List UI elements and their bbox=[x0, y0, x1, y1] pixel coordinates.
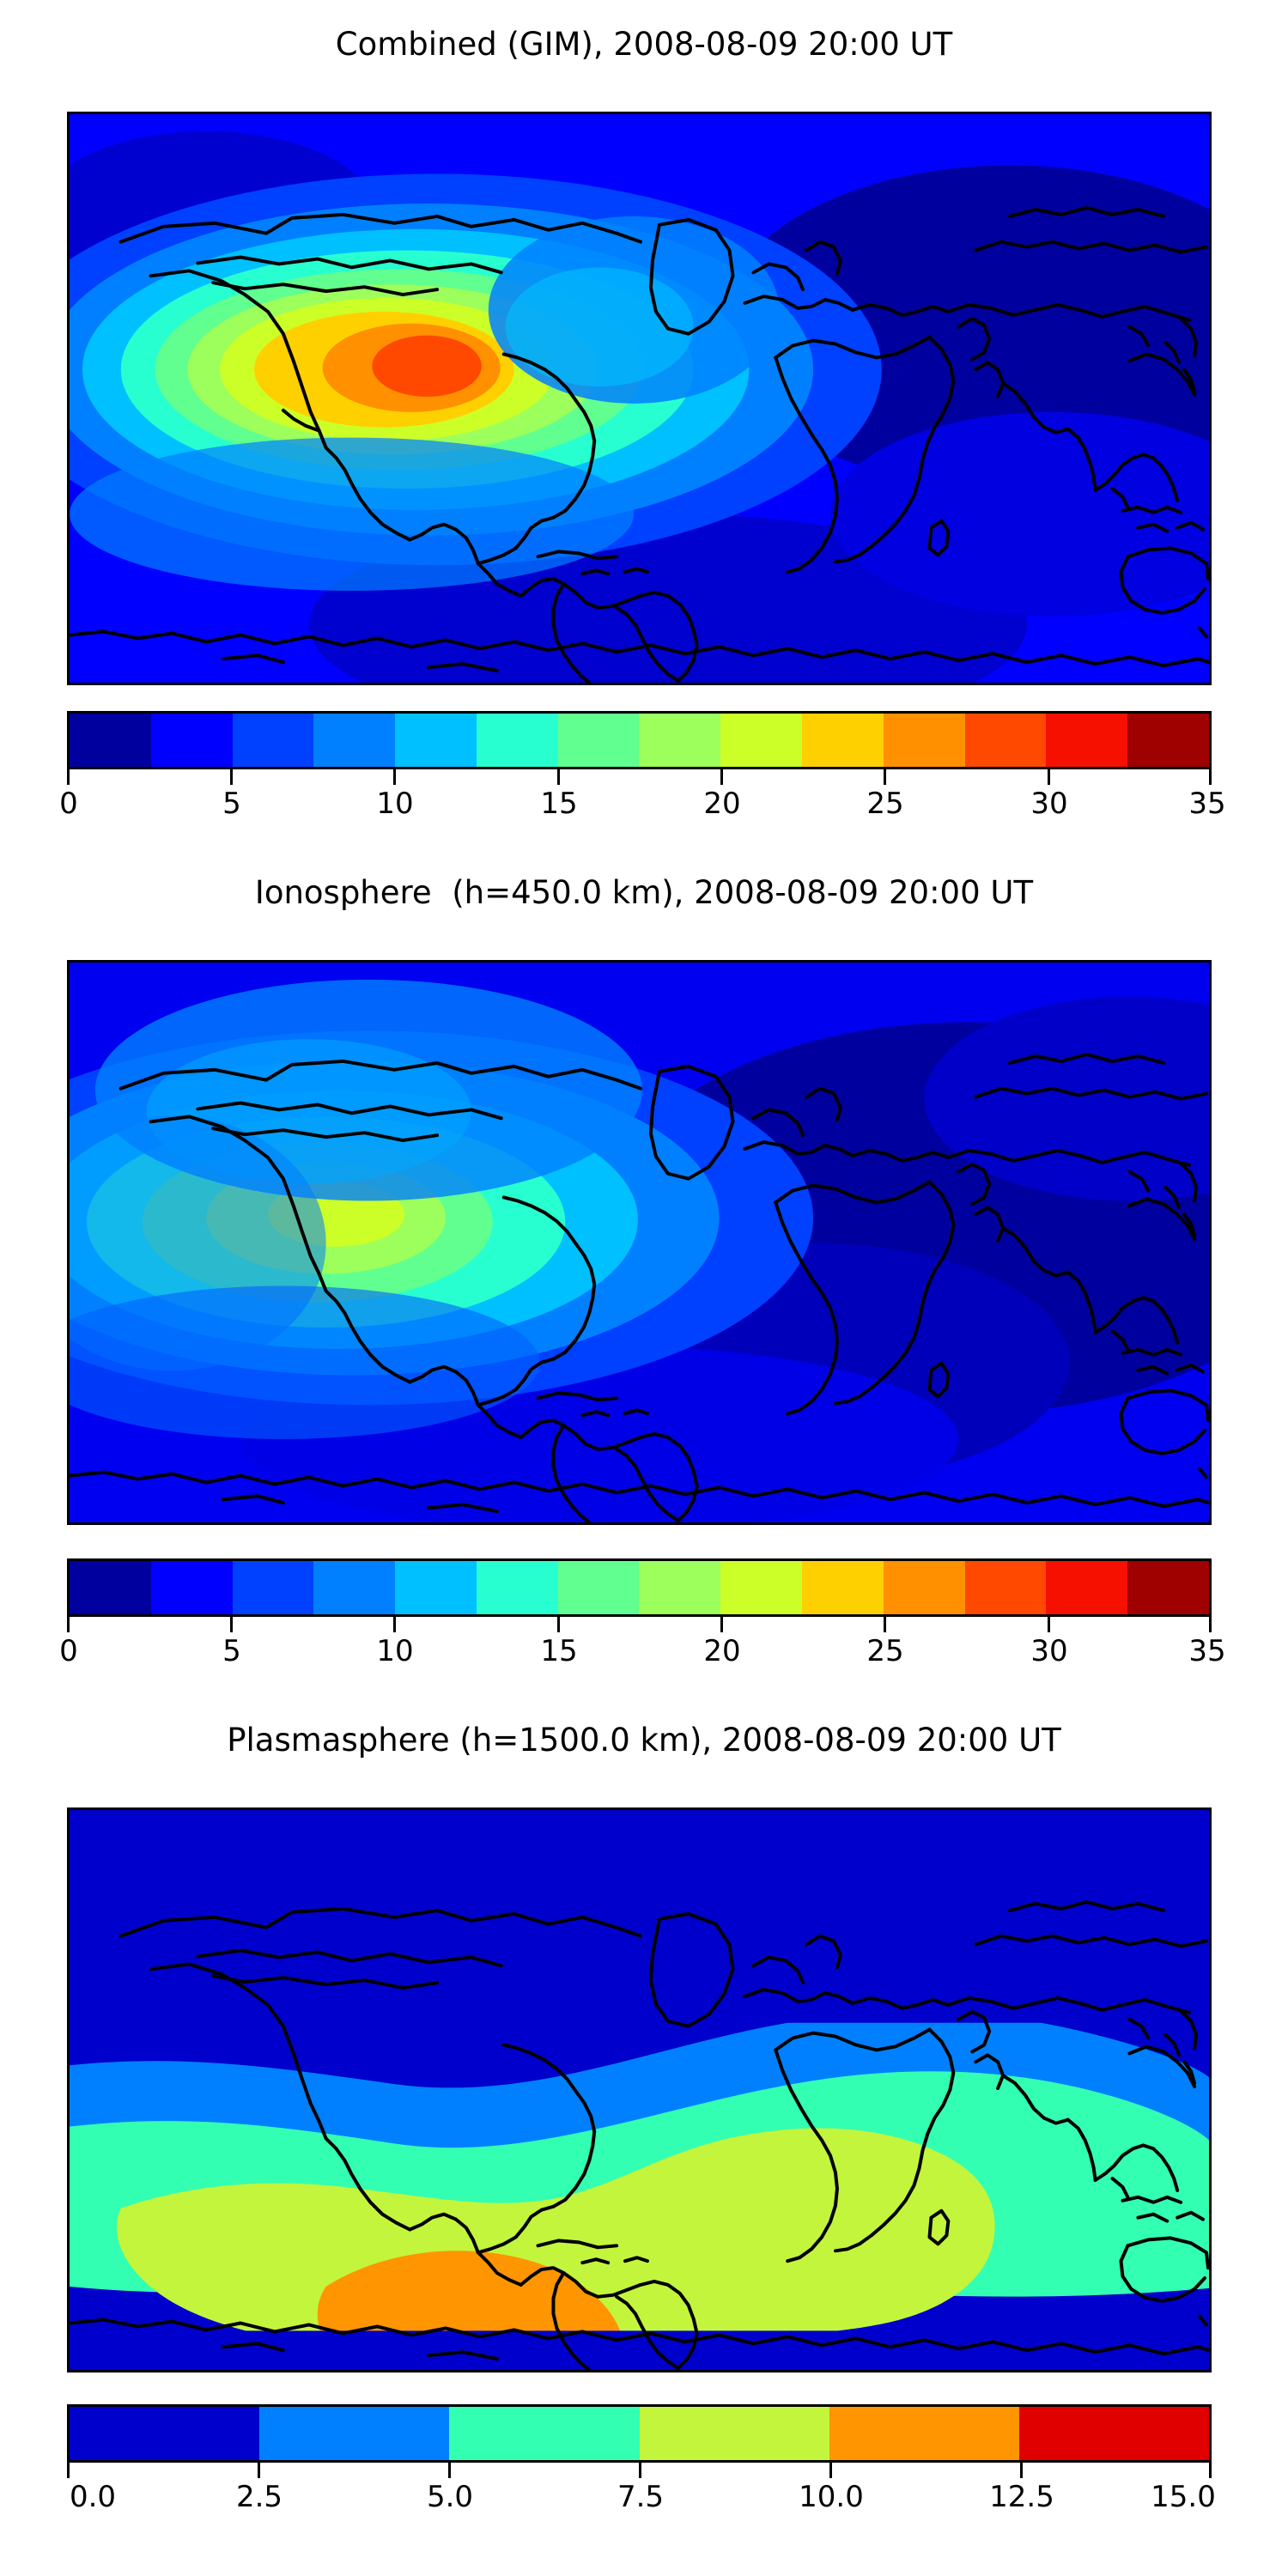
colorbar-band bbox=[802, 1561, 884, 1614]
colorbar-tick bbox=[230, 769, 233, 785]
colorbar-tick-label: 5.0 bbox=[427, 2480, 473, 2514]
colorbar-band bbox=[477, 714, 558, 767]
colorbar-band bbox=[70, 2407, 259, 2460]
colorbar-band bbox=[70, 714, 151, 767]
colorbar-tick bbox=[1020, 2463, 1023, 2478]
colorbar-band bbox=[558, 1561, 640, 1614]
colorbar-band bbox=[802, 714, 884, 767]
colorbar-tick bbox=[1048, 1617, 1050, 1632]
map-axes-ionosphere bbox=[67, 960, 1212, 1525]
colorbar-tick-label: 0 bbox=[59, 787, 78, 821]
colorbar-band bbox=[70, 1561, 151, 1614]
colorbar-band bbox=[477, 1561, 558, 1614]
colorbar-tick bbox=[1209, 2463, 1212, 2478]
colorbar-tick-label: 15 bbox=[540, 787, 577, 821]
colorbar-tick bbox=[67, 2463, 70, 2478]
colorbar-tick bbox=[829, 2463, 832, 2478]
colorbar-band bbox=[640, 2407, 829, 2460]
tec-figure: Combined (GIM), 2008-08-09 20:00 UT bbox=[0, 0, 1288, 2576]
colorbar-tick bbox=[884, 769, 886, 785]
colorbar-band bbox=[1046, 714, 1127, 767]
colorbar-tick bbox=[67, 769, 70, 785]
colorbar-tick bbox=[720, 1617, 723, 1632]
colorbar-tick-label: 35 bbox=[1188, 1634, 1225, 1668]
colorbar-tick-label: 2.5 bbox=[236, 2480, 283, 2514]
colorbar-tick bbox=[393, 1617, 396, 1632]
map-canvas-plasmasphere bbox=[70, 1810, 1209, 2370]
colorbar-tick bbox=[1209, 1617, 1212, 1632]
map-axes-combined bbox=[67, 112, 1212, 685]
colorbar-tick bbox=[884, 1617, 886, 1632]
colorbar-band bbox=[1019, 2407, 1209, 2460]
colorbar-band bbox=[639, 714, 720, 767]
colorbar-tick-label: 25 bbox=[866, 787, 903, 821]
map-canvas-combined bbox=[70, 114, 1209, 683]
colorbar-tick-label: 7.5 bbox=[617, 2480, 664, 2514]
colorbar-tick bbox=[639, 2463, 641, 2478]
colorbar-tick bbox=[1209, 769, 1212, 785]
colorbar-band bbox=[233, 714, 314, 767]
colorbar-tick bbox=[720, 769, 723, 785]
colorbar-band bbox=[395, 714, 477, 767]
colorbar-band bbox=[720, 714, 802, 767]
colorbar-band bbox=[313, 1561, 395, 1614]
map-axes-plasmasphere bbox=[67, 1807, 1212, 2372]
colorbar-gradient-combined bbox=[67, 711, 1212, 769]
colorbar-band bbox=[395, 1561, 477, 1614]
colorbar-ticks-combined bbox=[67, 769, 1212, 785]
colorbar-band bbox=[558, 714, 640, 767]
colorbar-band bbox=[233, 1561, 314, 1614]
colorbar-band bbox=[1127, 1561, 1209, 1614]
colorbar-tick-label: 10 bbox=[376, 1634, 413, 1668]
colorbar-band bbox=[151, 714, 233, 767]
colorbar-tick-label: 25 bbox=[866, 1634, 903, 1668]
colorbar-band bbox=[884, 714, 965, 767]
colorbar-tick-label: 12.5 bbox=[989, 2480, 1054, 2514]
panel-title-combined: Combined (GIM), 2008-08-09 20:00 UT bbox=[0, 26, 1288, 63]
colorbar-labels-combined: 0 5 10 15 20 25 30 35 bbox=[67, 785, 1212, 828]
panel-title-ionosphere: Ionosphere (h=450.0 km), 2008-08-09 20:0… bbox=[0, 874, 1288, 911]
colorbar-band bbox=[639, 1561, 720, 1614]
colorbar-tick bbox=[557, 769, 560, 785]
colorbar-band bbox=[313, 714, 395, 767]
colorbar-tick-label: 0 bbox=[59, 1634, 78, 1668]
colorbar-tick bbox=[230, 1617, 233, 1632]
colorbar-tick bbox=[67, 1617, 70, 1632]
colorbar-band bbox=[829, 2407, 1019, 2460]
colorbar-gradient-plasmasphere bbox=[67, 2404, 1212, 2463]
colorbar-band bbox=[151, 1561, 233, 1614]
colorbar-tick-label: 5 bbox=[222, 1634, 241, 1668]
colorbar-tick bbox=[448, 2463, 451, 2478]
colorbar-tick-label: 10 bbox=[376, 787, 413, 821]
colorbar-labels-plasmasphere: 0.0 2.5 5.0 7.5 10.0 12.5 15.0 bbox=[67, 2478, 1212, 2521]
colorbar-combined: 0 5 10 15 20 25 30 35 bbox=[67, 711, 1212, 828]
colorbar-tick-label: 20 bbox=[703, 787, 740, 821]
colorbar-tick-label: 15.0 bbox=[1151, 2480, 1216, 2514]
colorbar-plasmasphere: 0.0 2.5 5.0 7.5 10.0 12.5 15.0 bbox=[67, 2404, 1212, 2521]
colorbar-ionosphere: 0 5 10 15 20 25 30 35 bbox=[67, 1558, 1212, 1675]
colorbar-tick-label: 5 bbox=[222, 787, 241, 821]
colorbar-ticks-plasmasphere bbox=[67, 2463, 1212, 2478]
colorbar-tick-label: 0.0 bbox=[70, 2480, 116, 2514]
colorbar-band bbox=[965, 714, 1047, 767]
colorbar-tick-label: 30 bbox=[1030, 1634, 1067, 1668]
colorbar-labels-ionosphere: 0 5 10 15 20 25 30 35 bbox=[67, 1632, 1212, 1675]
colorbar-ticks-ionosphere bbox=[67, 1617, 1212, 1632]
colorbar-band bbox=[449, 2407, 639, 2460]
colorbar-band bbox=[965, 1561, 1047, 1614]
colorbar-tick-label: 15 bbox=[540, 1634, 577, 1668]
colorbar-tick bbox=[557, 1617, 560, 1632]
colorbar-tick-label: 10.0 bbox=[799, 2480, 864, 2514]
colorbar-tick bbox=[258, 2463, 260, 2478]
colorbar-band bbox=[1127, 714, 1209, 767]
colorbar-band bbox=[259, 2407, 449, 2460]
colorbar-band bbox=[884, 1561, 965, 1614]
panel-title-plasmasphere: Plasmasphere (h=1500.0 km), 2008-08-09 2… bbox=[0, 1722, 1288, 1759]
colorbar-tick-label: 30 bbox=[1030, 787, 1067, 821]
map-canvas-ionosphere bbox=[70, 963, 1209, 1522]
colorbar-band bbox=[1046, 1561, 1127, 1614]
colorbar-tick-label: 20 bbox=[703, 1634, 740, 1668]
colorbar-tick bbox=[1048, 769, 1050, 785]
colorbar-tick-label: 35 bbox=[1188, 787, 1225, 821]
colorbar-band bbox=[720, 1561, 802, 1614]
colorbar-gradient-ionosphere bbox=[67, 1558, 1212, 1617]
colorbar-tick bbox=[393, 769, 396, 785]
